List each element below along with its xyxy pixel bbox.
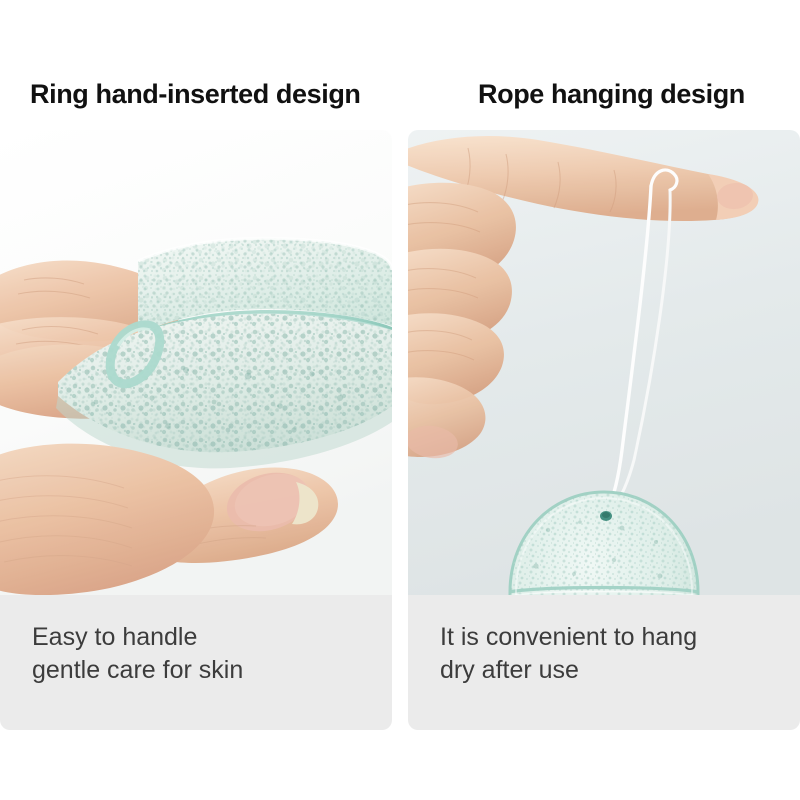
heading-cell-right: Rope hanging design <box>400 0 800 130</box>
caption-left-line2: gentle care for skin <box>32 654 392 687</box>
photo-hand-holding-sponge <box>0 130 392 595</box>
caption-right: It is convenient to hang dry after use <box>408 595 800 730</box>
panels-row: Easy to handle gentle care for skin <box>0 130 800 732</box>
panel-heading-right: Rope hanging design <box>478 79 745 110</box>
heading-cell-left: Ring hand-inserted design <box>0 0 400 130</box>
caption-left-line1: Easy to handle <box>32 621 392 654</box>
panel-card-left: Easy to handle gentle care for skin <box>0 130 392 730</box>
headings-row: Ring hand-inserted design Rope hanging d… <box>0 0 800 130</box>
caption-right-line1: It is convenient to hang <box>440 621 800 654</box>
panel-heading-left: Ring hand-inserted design <box>30 79 361 110</box>
caption-right-line2: dry after use <box>440 654 800 687</box>
product-infographic: Ring hand-inserted design Rope hanging d… <box>0 0 800 800</box>
panel-card-right: It is convenient to hang dry after use <box>408 130 800 730</box>
photo-sponge-hanging-on-finger <box>408 130 800 595</box>
caption-left: Easy to handle gentle care for skin <box>0 595 392 730</box>
